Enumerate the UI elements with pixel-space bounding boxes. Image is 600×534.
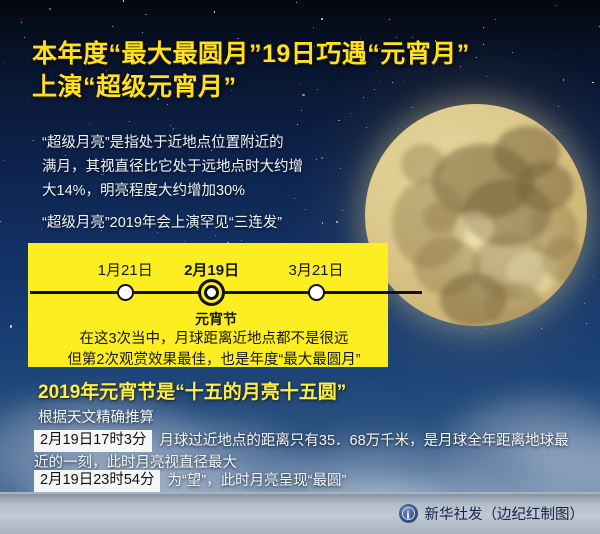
credit-text: 新华社发（边纪红制图） [425,503,585,524]
fact-time-badge: 2月19日23时54分 [34,470,160,492]
timeline-marker-2 [198,279,225,306]
moon-crater [423,202,459,233]
lede-line-3: 大14%，明亮程度大约增加30% [42,179,362,203]
moon-crater [485,282,543,326]
fact-row: 2月19日23时54分为“望”，此时月亮呈现“最圆” [34,470,579,492]
lede-line-1: “超级月亮”是指处于近地点位置附近的 [42,131,362,155]
moon-crater [401,144,445,184]
page-title: 本年度“最大最圆月”19日巧遇“元宵月” 上演“超级元宵月” [32,38,592,104]
fact-text: 为“望”，此时月亮呈现“最圆” [167,473,346,489]
fact-row: 2月19日17时3分月球过近地点的距离只有35．68万千米，是月球全年距离地球最… [34,430,579,474]
timeline-marker-1 [117,284,134,301]
lede-paragraph: “超级月亮”是指处于近地点位置附近的 满月，其视直径比它处于远地点时大约增 大1… [42,131,362,203]
timeline-marker-3 [308,284,325,301]
timeline-note: 在这3次当中，月球距离近地点都不是很远 但第2次观赏效果最佳，也是年度“最大最圆… [28,329,400,371]
title-line-1: 本年度“最大最圆月”19日巧遇“元宵月” [32,40,470,68]
lede-line-4: “超级月亮”2019年会上演罕见“三连发” [42,212,372,234]
timeline-panel: 1月21日2月19日3月21日 元宵节 在这3次当中，月球距离近地点都不是很远 … [28,243,388,367]
timeline-note-line-2: 但第2次观赏效果最佳，也是年度“最大最圆月” [28,350,400,371]
timeline-note-line-1: 在这3次当中，月球距离近地点都不是很远 [28,329,400,350]
moon-crater [454,211,494,247]
timeline-caption: 元宵节 [28,309,388,329]
title-line-2: 上演“超级元宵月” [32,71,592,104]
xinhua-logo-icon [399,504,418,523]
infographic-poster: 本年度“最大最圆月”19日巧遇“元宵月” 上演“超级元宵月” “超级月亮”是指处… [0,0,600,534]
fact-time-badge: 2月19日17时3分 [34,430,152,452]
credit-line: 新华社发（边纪红制图） [399,503,585,524]
moon-crater [543,237,583,281]
lede-line-2: 满月，其视直径比它处于远地点时大约增 [42,155,362,179]
section-heading: 2019年元宵节是“十五的月亮十五圆” [38,377,346,404]
cloud-puff [120,499,400,534]
section-subnote: 根据天文精确推算 [38,406,154,427]
